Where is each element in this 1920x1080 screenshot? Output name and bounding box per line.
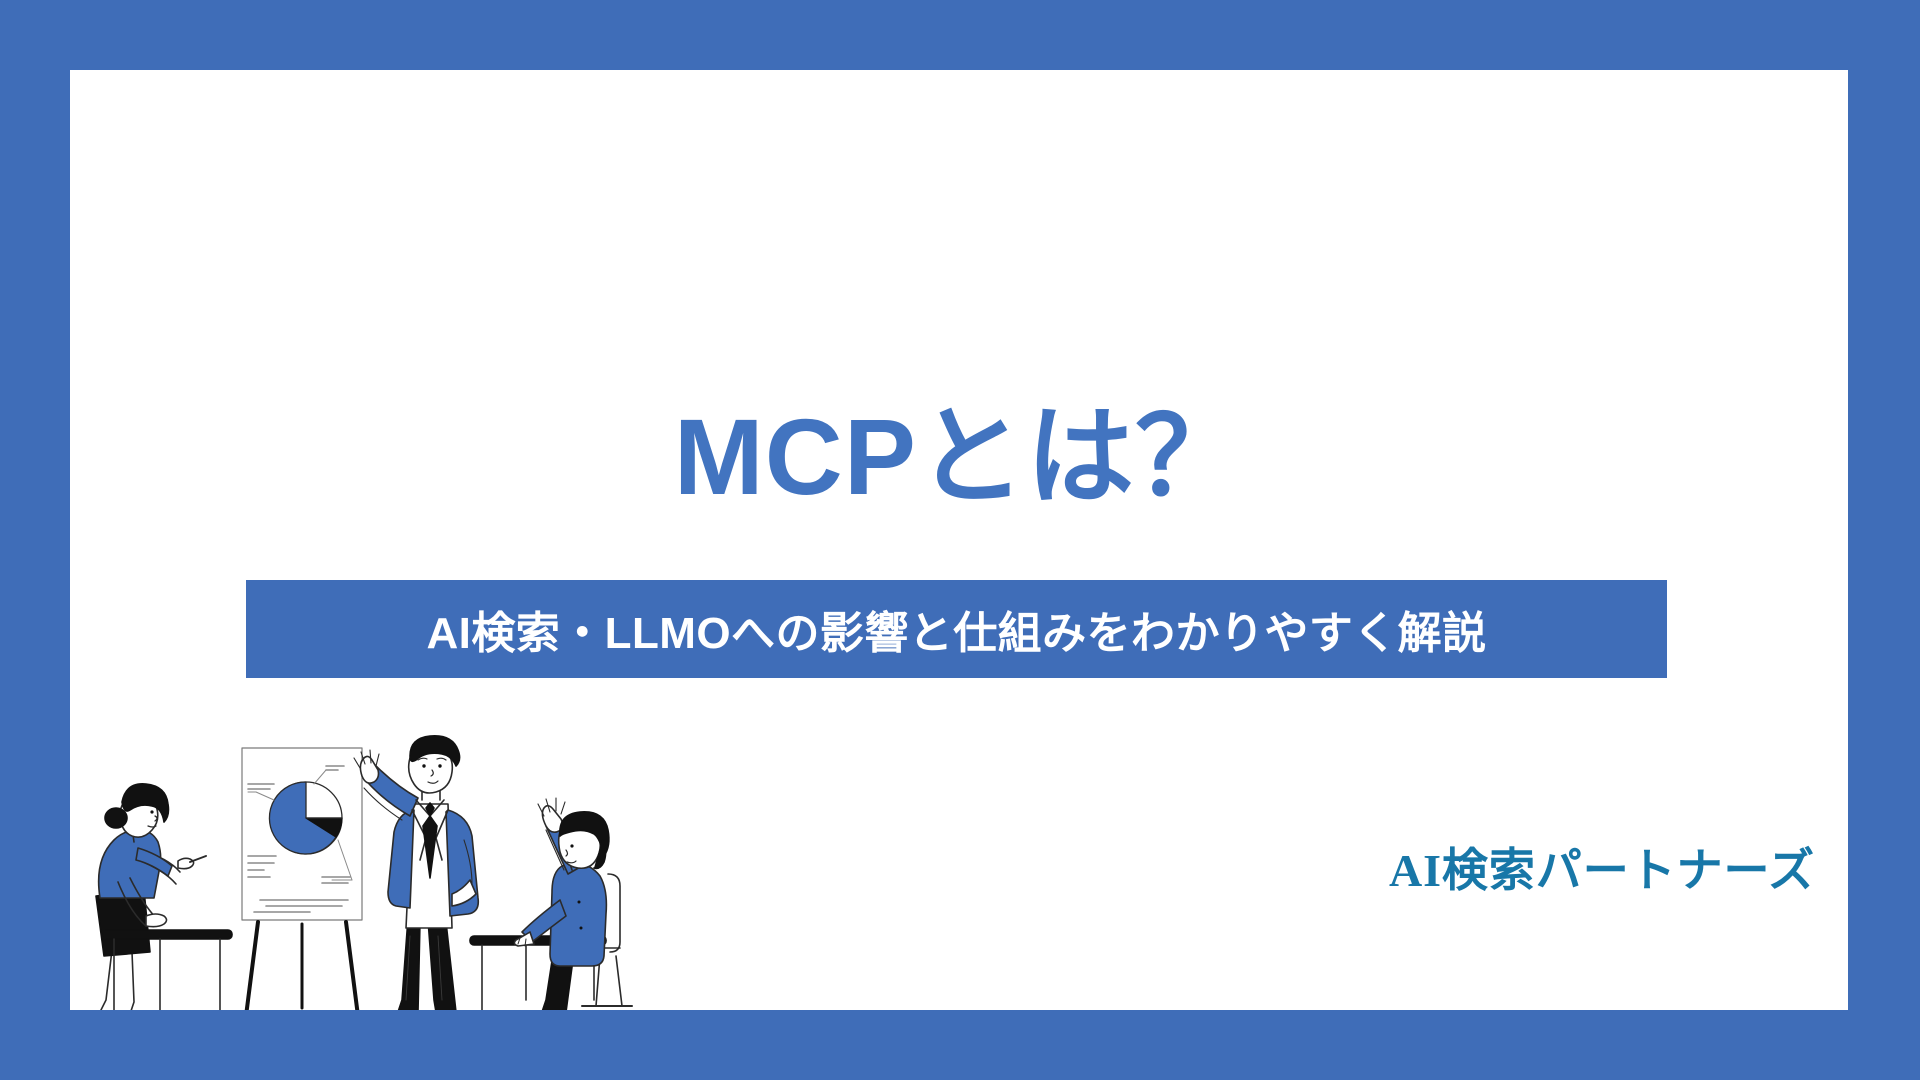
brand-logotype: AI検索パートナーズ [1389, 834, 1815, 900]
subtitle-text: AI検索・LLMOへの影響と仕組みをわかりやすく解説 [426, 597, 1486, 661]
slide-card: MCPとは？ AI検索・LLMOへの影響と仕組みをわかりやすく解説 AI検索パー… [70, 70, 1848, 1010]
flipchart-with-pie-chart [242, 748, 362, 1010]
page-title: MCPとは？ [70, 398, 1848, 517]
figure-man-presenting [354, 736, 478, 1010]
pie-chart [269, 782, 342, 854]
figure-woman-pointing [95, 784, 206, 1010]
business-presentation-illustration [70, 700, 640, 1010]
figure-seated-raising-hand [514, 798, 632, 1010]
slide-canvas: MCPとは？ AI検索・LLMOへの影響と仕組みをわかりやすく解説 AI検索パー… [0, 0, 1920, 1080]
subtitle-banner: AI検索・LLMOへの影響と仕組みをわかりやすく解説 [246, 580, 1667, 678]
